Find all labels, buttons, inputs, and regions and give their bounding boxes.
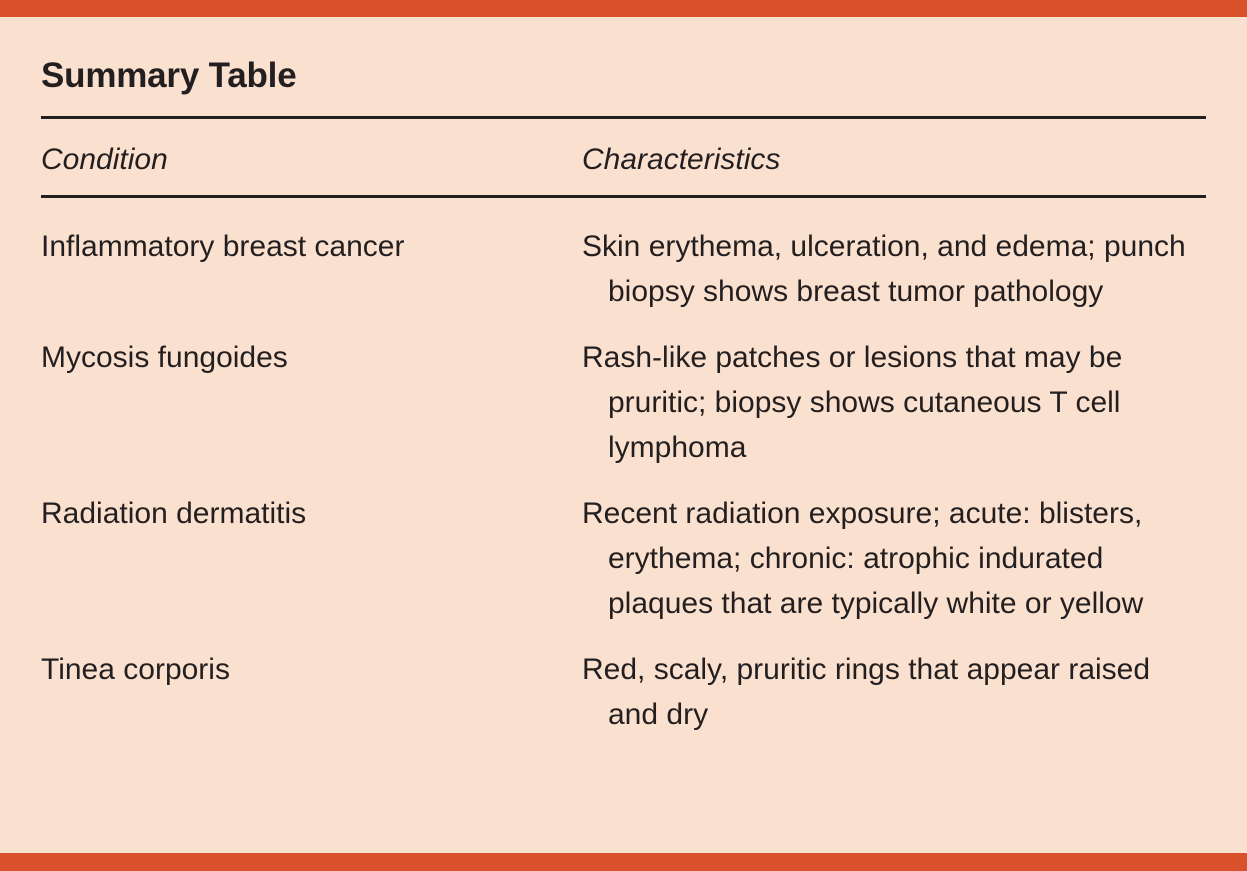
- column-header-condition: Condition: [41, 119, 582, 195]
- cell-condition: Mycosis fungoides: [41, 314, 582, 470]
- cell-characteristics: Recent radiation exposure; acute: bliste…: [582, 470, 1206, 626]
- column-header-characteristics: Characteristics: [582, 119, 1206, 195]
- cell-condition: Tinea corporis: [41, 626, 582, 737]
- column-header-condition-label: Condition: [41, 143, 582, 177]
- characteristics-text: Skin erythema, ulceration, and edema; pu…: [608, 224, 1206, 314]
- top-accent-bar: [0, 0, 1247, 17]
- summary-table-page: Summary Table Condition Characteristics: [0, 0, 1247, 871]
- table-content: Summary Table Condition Characteristics: [41, 17, 1206, 737]
- bottom-accent-bar: [0, 853, 1247, 871]
- table-header: Condition Characteristics: [41, 119, 1206, 195]
- condition-text: Tinea corporis: [41, 647, 582, 692]
- summary-table: Condition Characteristics: [41, 119, 1206, 195]
- condition-text: Inflammatory breast cancer: [41, 224, 582, 269]
- page-title: Summary Table: [41, 17, 1206, 97]
- characteristics-text: Red, scaly, pruritic rings that appear r…: [608, 647, 1206, 737]
- table-row: Tinea corporis Red, scaly, pruritic ring…: [41, 626, 1206, 737]
- cell-characteristics: Rash-like patches or lesions that may be…: [582, 314, 1206, 470]
- column-header-characteristics-label: Characteristics: [582, 143, 1206, 177]
- table-header-row: Condition Characteristics: [41, 119, 1206, 195]
- table-row: Radiation dermatitis Recent radiation ex…: [41, 470, 1206, 626]
- characteristics-text: Recent radiation exposure; acute: bliste…: [608, 491, 1206, 626]
- table-row: Inflammatory breast cancer Skin erythema…: [41, 198, 1206, 314]
- table-row: Mycosis fungoides Rash-like patches or l…: [41, 314, 1206, 470]
- summary-table-body: Inflammatory breast cancer Skin erythema…: [41, 198, 1206, 737]
- cell-condition: Radiation dermatitis: [41, 470, 582, 626]
- characteristics-text: Rash-like patches or lesions that may be…: [608, 335, 1206, 470]
- condition-text: Mycosis fungoides: [41, 335, 582, 380]
- condition-text: Radiation dermatitis: [41, 491, 582, 536]
- cell-characteristics: Red, scaly, pruritic rings that appear r…: [582, 626, 1206, 737]
- cell-condition: Inflammatory breast cancer: [41, 198, 582, 314]
- cell-characteristics: Skin erythema, ulceration, and edema; pu…: [582, 198, 1206, 314]
